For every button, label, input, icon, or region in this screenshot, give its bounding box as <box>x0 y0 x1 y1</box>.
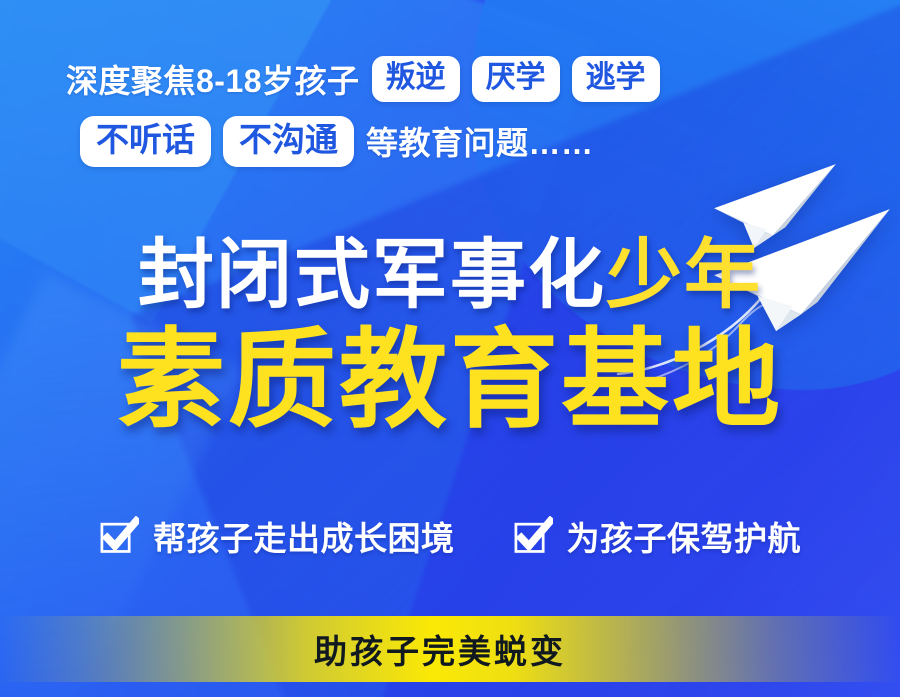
check-box-icon <box>99 516 139 556</box>
tag-row-1: 深度聚焦8-18岁孩子 叛逆 厌学 逃学 <box>66 56 860 102</box>
bottom-slogan-text: 助孩子完美蜕变 <box>314 625 566 673</box>
tag-pill-truancy[interactable]: 逃学 <box>572 56 660 102</box>
headline-line-1-yellow: 少年 <box>606 233 762 318</box>
headline-line-2: 素质教育基地 <box>0 326 900 434</box>
feature-label-growth: 帮孩子走出成长困境 <box>153 512 455 560</box>
tag-pill-no-communication[interactable]: 不沟通 <box>223 116 354 167</box>
tag-pill-disobedient[interactable]: 不听话 <box>80 116 211 167</box>
headline-line-1: 封闭式军事化少年 <box>0 238 900 314</box>
bottom-slogan-band: 助孩子完美蜕变 <box>0 616 900 682</box>
check-box-icon <box>513 516 553 556</box>
feature-item: 为孩子保驾护航 <box>513 512 802 560</box>
feature-list: 帮孩子走出成长困境 为孩子保驾护航 <box>0 512 900 560</box>
promo-banner: 深度聚焦8-18岁孩子 叛逆 厌学 逃学 不听话 不沟通 等教育问题…… 封闭式… <box>0 0 900 697</box>
other-education-problems-text: 等教育问题…… <box>366 118 594 164</box>
tag-block: 深度聚焦8-18岁孩子 叛逆 厌学 逃学 不听话 不沟通 等教育问题…… <box>66 56 860 181</box>
feature-item: 帮孩子走出成长困境 <box>99 512 455 560</box>
tag-pill-school-aversion[interactable]: 厌学 <box>472 56 560 102</box>
headline-line-1-white: 封闭式军事化 <box>138 233 606 318</box>
headline-block: 封闭式军事化少年 素质教育基地 <box>0 238 900 434</box>
tag-row-2: 不听话 不沟通 等教育问题…… <box>80 116 860 167</box>
focus-headline-text: 深度聚焦8-18岁孩子 <box>66 56 360 102</box>
feature-label-escort: 为孩子保驾护航 <box>567 512 802 560</box>
tag-pill-rebellion[interactable]: 叛逆 <box>372 56 460 102</box>
